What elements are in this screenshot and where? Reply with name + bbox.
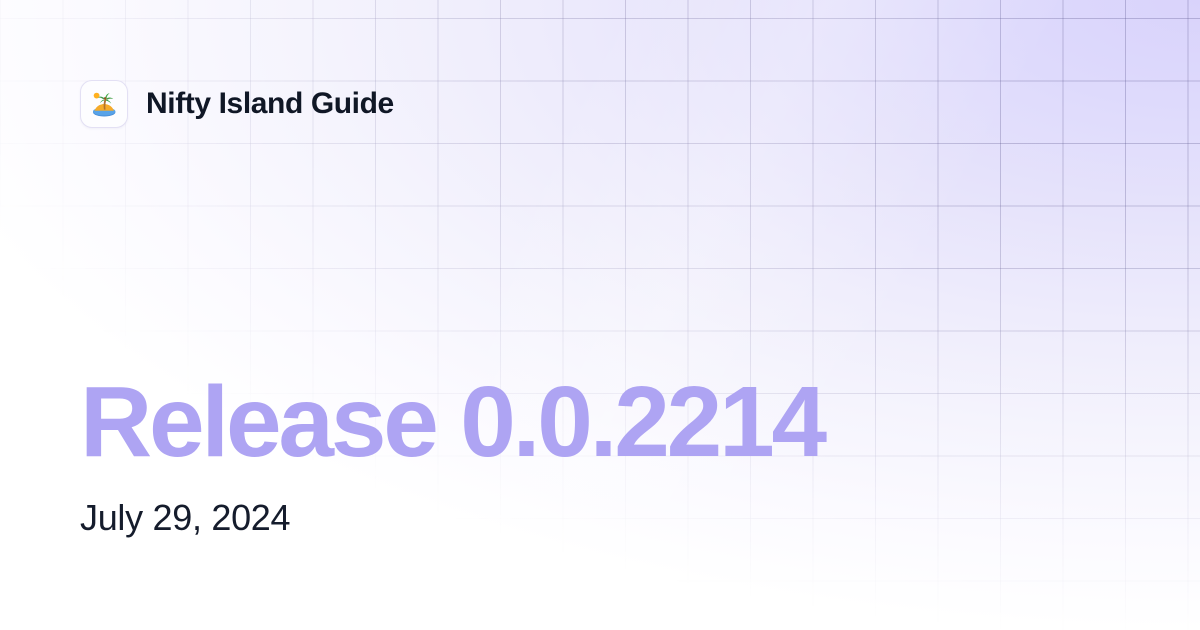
release-date: July 29, 2024 [80,498,824,538]
hero-text-block: Release 0.0.2214 July 29, 2024 [80,372,824,538]
card-content: Nifty Island Guide Release 0.0.2214 July… [0,0,1200,630]
brand-header: Nifty Island Guide [80,80,394,128]
brand-title: Nifty Island Guide [146,87,394,121]
release-announcement-card: Nifty Island Guide Release 0.0.2214 July… [0,0,1200,630]
release-headline: Release 0.0.2214 [80,372,824,472]
brand-logo-badge [80,80,128,128]
desert-island-icon [88,88,120,120]
